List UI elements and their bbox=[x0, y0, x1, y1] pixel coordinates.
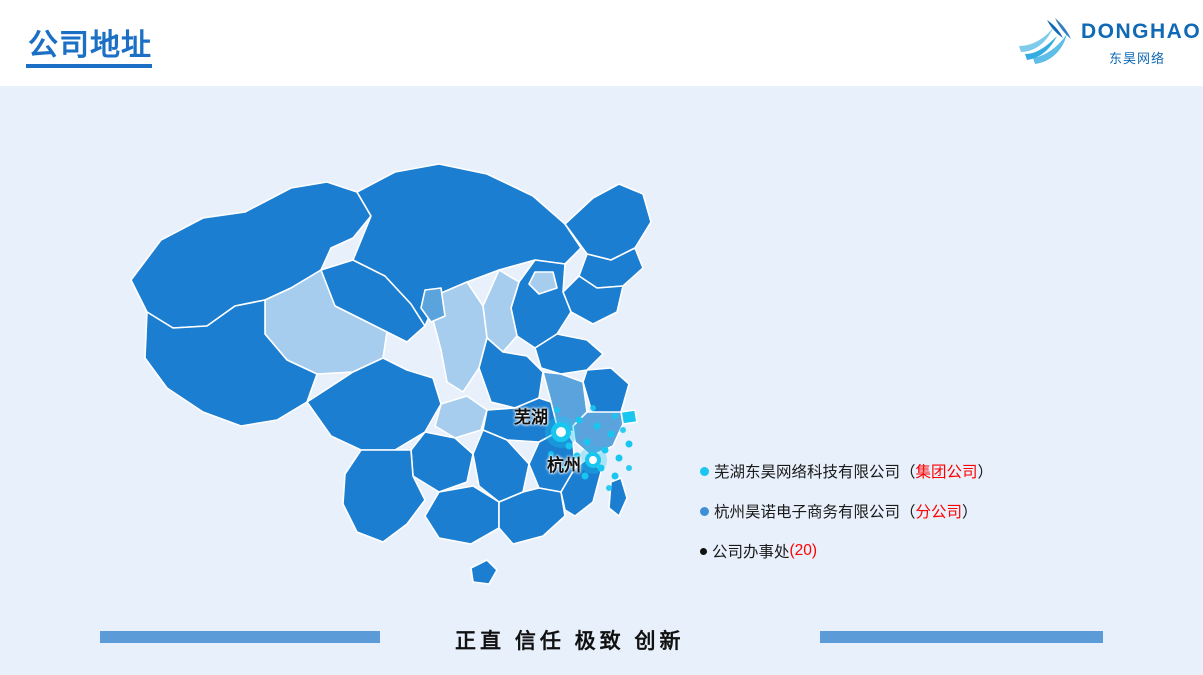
logo-text: DONGHAO bbox=[1081, 20, 1201, 44]
slide-company-address: 公司地址 DONGHAO 东昊网络 bbox=[0, 0, 1203, 675]
logo-mark-icon bbox=[1017, 14, 1079, 66]
china-map: 芜湖 杭州 bbox=[95, 120, 685, 610]
legend-dot-black-icon bbox=[700, 548, 707, 555]
province-guangxi bbox=[425, 486, 499, 544]
legend-item-group-company: 芜湖东昊网络科技有限公司（集团公司） bbox=[700, 460, 1120, 482]
marker-wuhu bbox=[545, 416, 577, 448]
map-label-wuhu: 芜湖 bbox=[514, 403, 548, 428]
footer-bar-left bbox=[100, 631, 380, 643]
title-underline bbox=[26, 64, 152, 68]
legend-highlight-1: 集团公司 bbox=[916, 460, 978, 482]
legend-suffix-1: ） bbox=[978, 460, 994, 482]
legend-dot-cyan-icon bbox=[700, 467, 709, 476]
page-title: 公司地址 bbox=[28, 20, 152, 64]
legend-highlight-3: (20) bbox=[790, 542, 818, 560]
legend-text-1: 芜湖东昊网络科技有限公司（ bbox=[714, 460, 916, 482]
province-yunnan bbox=[343, 450, 425, 542]
legend-text-2: 杭州昊诺电子商务有限公司（ bbox=[714, 500, 916, 522]
legend: 芜湖东昊网络科技有限公司（集团公司） 杭州昊诺电子商务有限公司（分公司） 公司办… bbox=[700, 460, 1120, 580]
footer-bar-right bbox=[820, 631, 1103, 643]
province-hainan bbox=[471, 560, 497, 584]
company-logo: DONGHAO 东昊网络 bbox=[1017, 10, 1187, 74]
slide-header: 公司地址 DONGHAO 东昊网络 bbox=[0, 0, 1203, 86]
legend-item-branch-company: 杭州昊诺电子商务有限公司（分公司） bbox=[700, 500, 1120, 522]
legend-item-offices: 公司办事处(20) bbox=[700, 540, 1120, 562]
legend-highlight-2: 分公司 bbox=[916, 500, 963, 522]
province-chongqing bbox=[435, 396, 487, 438]
logo-subtitle: 东昊网络 bbox=[1109, 48, 1165, 67]
map-label-hangzhou: 杭州 bbox=[547, 451, 581, 476]
footer-motto: 正直 信任 极致 创新 bbox=[455, 625, 685, 655]
china-map-svg bbox=[95, 120, 685, 610]
legend-dot-blue-icon bbox=[700, 507, 709, 516]
legend-suffix-2: ） bbox=[962, 500, 978, 522]
province-henan bbox=[479, 338, 543, 408]
province-jiangsu bbox=[583, 368, 629, 416]
province-taiwan bbox=[609, 478, 627, 516]
legend-text-3: 公司办事处 bbox=[712, 540, 790, 562]
province-guizhou bbox=[411, 432, 473, 492]
